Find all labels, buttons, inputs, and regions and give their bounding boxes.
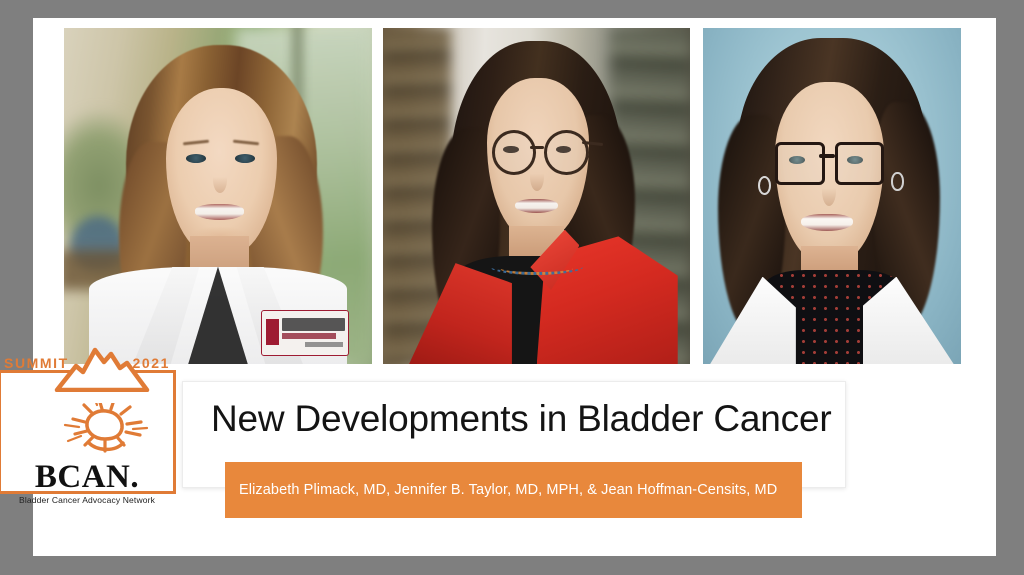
eyeglass-bridge: [819, 154, 834, 158]
photo-elizabeth-plimack: [64, 28, 372, 364]
bcan-tagline: Bladder Cancer Advocacy Network: [1, 495, 173, 505]
badge-logo-mark: [266, 319, 280, 345]
slide-stage: New Developments in Bladder Cancer Eliza…: [0, 0, 1024, 575]
eyeglass-lens-right: [544, 130, 588, 175]
mountain-peak-icon: [54, 346, 150, 392]
badge-line-3: [305, 342, 343, 347]
eyeglass-lens-left: [775, 142, 825, 185]
sunburst-icon: [53, 403, 157, 463]
photo-jean-hoffman-censits: [703, 28, 961, 364]
eye-left: [186, 154, 206, 163]
presenters-bar: Elizabeth Plimack, MD, Jennifer B. Taylo…: [225, 462, 802, 518]
photo-2-artwork: [383, 28, 690, 364]
eye-right: [235, 154, 255, 163]
eyeglass-lens-right: [835, 142, 885, 185]
badge-line-2: [282, 333, 336, 339]
badge-line-1: [282, 318, 345, 331]
nose: [822, 176, 836, 206]
bcan-summit-logo: SUMMIT 2021: [0, 352, 178, 495]
eyeglass-bridge: [530, 146, 544, 149]
page-title: New Developments in Bladder Cancer: [211, 398, 831, 440]
bcan-acronym: BCAN.: [1, 461, 173, 494]
earring-right: [891, 172, 903, 190]
fox-chase-badge: [261, 310, 349, 356]
mouth: [195, 204, 244, 219]
photo-3-artwork: [703, 28, 961, 364]
photo-1-artwork: [64, 28, 372, 364]
photo-jennifer-taylor: [383, 28, 690, 364]
nose: [213, 166, 227, 193]
presenters-text: Elizabeth Plimack, MD, Jennifer B. Taylo…: [239, 482, 777, 498]
